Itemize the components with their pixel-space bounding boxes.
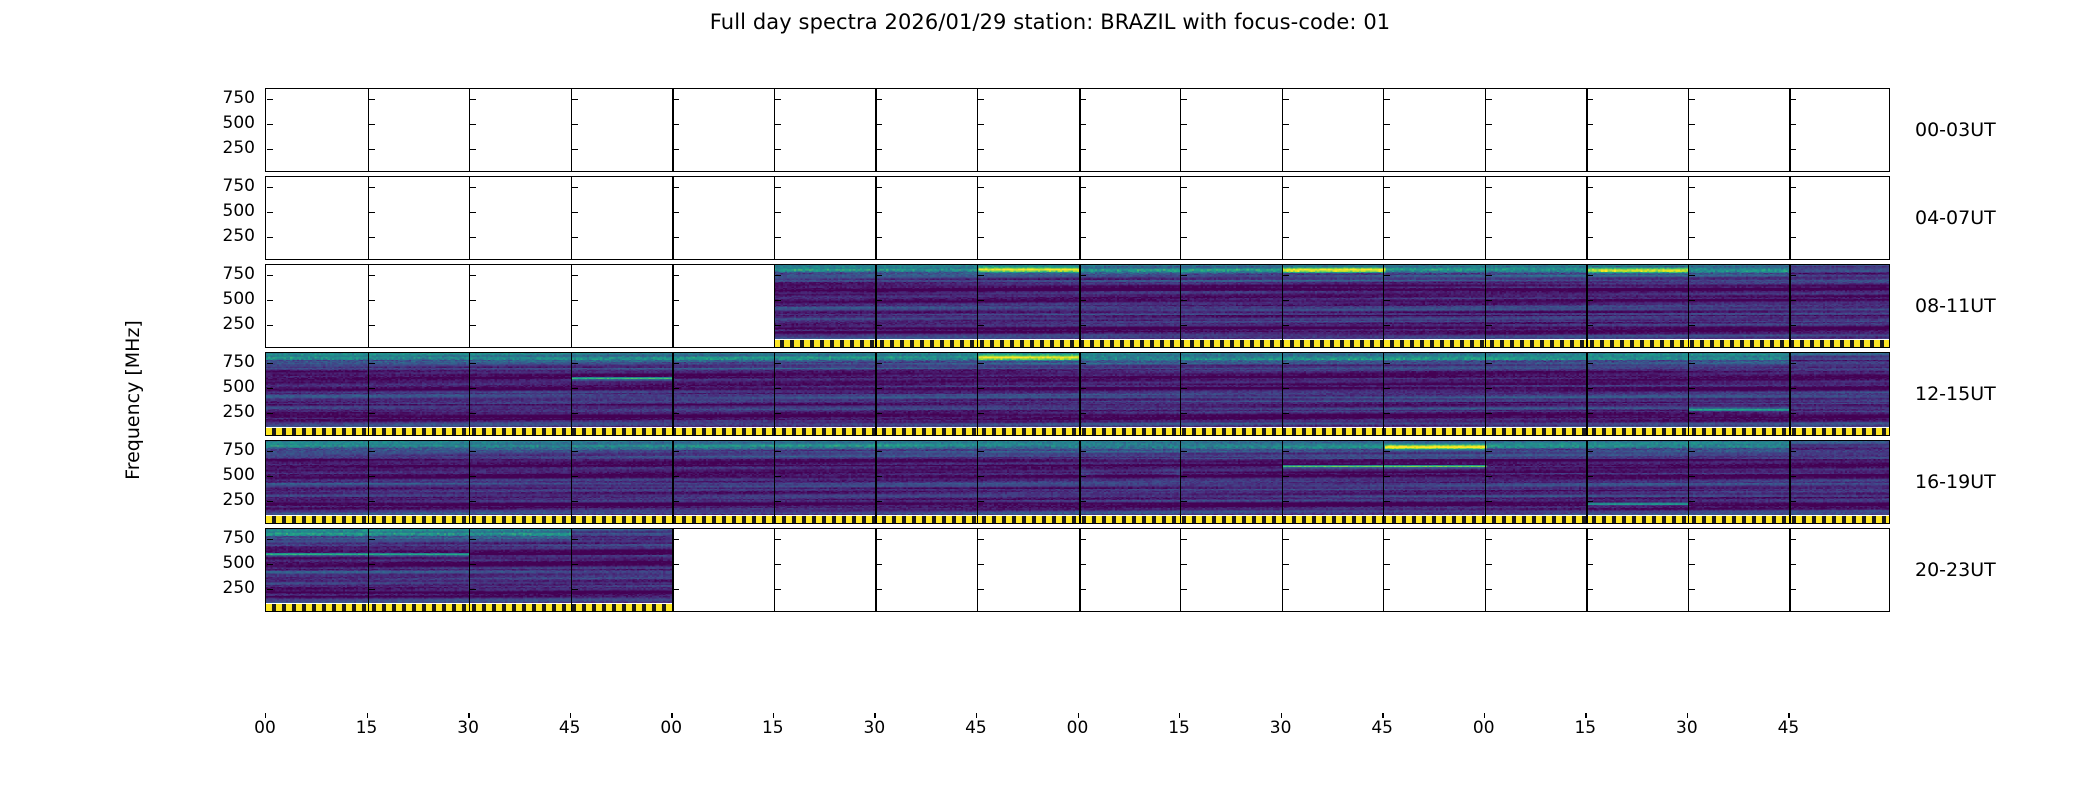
subpanel-divider bbox=[571, 529, 572, 611]
subpanel-divider bbox=[571, 89, 572, 171]
y-tick-mark bbox=[369, 413, 375, 414]
y-tick-mark bbox=[1689, 212, 1695, 213]
y-tick-mark bbox=[1587, 149, 1593, 150]
y-tick-mark bbox=[1790, 539, 1796, 540]
y-tick-mark bbox=[1181, 501, 1187, 502]
y-tick-mark bbox=[1283, 275, 1289, 276]
y-tick-mark bbox=[1384, 300, 1390, 301]
y-tick-mark bbox=[1486, 187, 1492, 188]
y-tick-mark bbox=[673, 187, 679, 188]
subpanel-divider bbox=[1282, 265, 1283, 347]
y-tick-mark bbox=[470, 501, 476, 502]
subpanel-divider bbox=[977, 441, 978, 523]
row-time-label: 08-11UT bbox=[1915, 295, 1996, 317]
y-tick-mark bbox=[1689, 237, 1695, 238]
y-tick-mark bbox=[876, 564, 882, 565]
subpanel-divider bbox=[1180, 353, 1181, 435]
y-tick-mark bbox=[673, 212, 679, 213]
y-tick-mark bbox=[1384, 363, 1390, 364]
y-tick-mark bbox=[1181, 149, 1187, 150]
y-tick-mark bbox=[470, 187, 476, 188]
y-tick-mark bbox=[1486, 99, 1492, 100]
y-tick-mark bbox=[1689, 187, 1695, 188]
subpanel-divider bbox=[1180, 89, 1181, 171]
y-tick-mark bbox=[1080, 388, 1086, 389]
y-tick-mark bbox=[369, 564, 375, 565]
y-tick-mark bbox=[1689, 451, 1695, 452]
subpanel-divider bbox=[672, 177, 673, 259]
subpanel-divider bbox=[469, 353, 470, 435]
y-tick-mark bbox=[1384, 212, 1390, 213]
y-tick-mark bbox=[1587, 501, 1593, 502]
y-tick-mark bbox=[1080, 237, 1086, 238]
y-tick-label: 750 bbox=[223, 528, 255, 548]
y-tick-mark bbox=[1486, 149, 1492, 150]
subpanel-divider bbox=[469, 265, 470, 347]
y-tick-mark bbox=[1384, 476, 1390, 477]
y-tick-mark bbox=[1790, 388, 1796, 389]
y-tick-mark bbox=[1181, 564, 1187, 565]
y-tick-mark bbox=[978, 476, 984, 477]
y-tick-mark bbox=[267, 187, 273, 188]
y-tick-mark bbox=[1283, 589, 1289, 590]
subpanel-divider bbox=[1688, 177, 1689, 259]
page-title: Full day spectra 2026/01/29 station: BRA… bbox=[0, 10, 2100, 34]
spectrogram-axes-08-11ut bbox=[265, 264, 1890, 348]
y-tick-mark bbox=[1790, 501, 1796, 502]
subpanel-divider bbox=[875, 177, 876, 259]
y-tick-mark bbox=[1486, 564, 1492, 565]
subpanel-divider bbox=[1383, 441, 1384, 523]
x-tick-label: 30 bbox=[457, 718, 479, 738]
y-tick-mark bbox=[978, 388, 984, 389]
y-tick-mark bbox=[1486, 388, 1492, 389]
y-tick-label: 250 bbox=[223, 402, 255, 422]
y-tick-mark bbox=[267, 149, 273, 150]
y-tick-mark bbox=[1689, 325, 1695, 326]
y-tick-label: 750 bbox=[223, 440, 255, 460]
subpanel-divider bbox=[469, 177, 470, 259]
y-tick-label: 500 bbox=[223, 113, 255, 133]
y-tick-mark bbox=[1384, 413, 1390, 414]
y-tick-mark bbox=[1486, 325, 1492, 326]
y-tick-mark bbox=[775, 212, 781, 213]
subpanel-divider bbox=[1586, 265, 1587, 347]
y-tick-mark bbox=[1181, 363, 1187, 364]
y-tick-mark bbox=[572, 476, 578, 477]
y-tick-mark bbox=[1790, 413, 1796, 414]
subpanel-divider bbox=[1383, 353, 1384, 435]
subpanel-divider bbox=[1688, 353, 1689, 435]
y-tick-mark bbox=[775, 539, 781, 540]
y-tick-mark bbox=[1689, 501, 1695, 502]
subpanel-divider bbox=[977, 89, 978, 171]
y-tick-mark bbox=[1587, 476, 1593, 477]
y-tick-mark bbox=[1587, 187, 1593, 188]
y-tick-mark bbox=[470, 124, 476, 125]
y-tick-mark bbox=[1689, 275, 1695, 276]
y-tick-mark bbox=[1587, 589, 1593, 590]
subpanel-divider bbox=[571, 353, 572, 435]
y-tick-mark bbox=[572, 413, 578, 414]
y-tick-mark bbox=[1283, 413, 1289, 414]
y-tick-label: 500 bbox=[223, 201, 255, 221]
y-tick-mark bbox=[1283, 363, 1289, 364]
subpanel-divider bbox=[1079, 353, 1081, 435]
row-time-label: 16-19UT bbox=[1915, 471, 1996, 493]
y-tick-mark bbox=[1283, 539, 1289, 540]
y-tick-mark bbox=[978, 124, 984, 125]
y-tick-mark bbox=[572, 589, 578, 590]
subpanel-divider bbox=[1282, 177, 1283, 259]
y-axis-title: Frequency [MHz] bbox=[122, 320, 144, 480]
subpanel-divider bbox=[368, 353, 369, 435]
y-tick-mark bbox=[267, 212, 273, 213]
y-tick-mark bbox=[369, 212, 375, 213]
y-tick-mark bbox=[1587, 300, 1593, 301]
y-tick-mark bbox=[1181, 187, 1187, 188]
y-tick-mark bbox=[1689, 539, 1695, 540]
y-tick-mark bbox=[673, 149, 679, 150]
spectrogram-row bbox=[265, 440, 1890, 524]
y-tick-mark bbox=[1080, 300, 1086, 301]
subpanel-divider bbox=[672, 265, 673, 347]
y-tick-mark bbox=[1384, 275, 1390, 276]
y-tick-mark bbox=[775, 413, 781, 414]
y-tick-mark bbox=[369, 325, 375, 326]
spectrogram-row bbox=[265, 264, 1890, 348]
y-tick-mark bbox=[1790, 325, 1796, 326]
y-tick-mark bbox=[1587, 325, 1593, 326]
y-tick-mark bbox=[978, 451, 984, 452]
subpanel-divider bbox=[774, 265, 775, 347]
subpanel-divider bbox=[977, 353, 978, 435]
y-tick-mark bbox=[978, 539, 984, 540]
y-tick-mark bbox=[572, 300, 578, 301]
x-tick-label: 00 bbox=[1067, 718, 1089, 738]
y-tick-mark bbox=[775, 363, 781, 364]
y-tick-mark bbox=[673, 124, 679, 125]
y-tick-mark bbox=[978, 212, 984, 213]
y-tick-mark bbox=[1486, 237, 1492, 238]
y-tick-mark bbox=[876, 413, 882, 414]
y-tick-mark bbox=[876, 388, 882, 389]
y-tick-mark bbox=[267, 476, 273, 477]
y-tick-label: 250 bbox=[223, 578, 255, 598]
y-tick-mark bbox=[470, 237, 476, 238]
y-tick-mark bbox=[673, 564, 679, 565]
y-tick-mark bbox=[267, 275, 273, 276]
subpanel-divider bbox=[1282, 89, 1283, 171]
y-tick-mark bbox=[572, 325, 578, 326]
y-tick-mark bbox=[978, 501, 984, 502]
subpanel-divider bbox=[1586, 529, 1587, 611]
y-tick-mark bbox=[1790, 300, 1796, 301]
y-tick-mark bbox=[369, 237, 375, 238]
y-tick-mark bbox=[470, 149, 476, 150]
subpanel-divider bbox=[368, 177, 369, 259]
y-tick-mark bbox=[470, 564, 476, 565]
y-tick-mark bbox=[369, 300, 375, 301]
y-tick-mark bbox=[1181, 539, 1187, 540]
subpanel-divider bbox=[1282, 529, 1283, 611]
y-tick-mark bbox=[1790, 187, 1796, 188]
x-tick-label: 15 bbox=[762, 718, 784, 738]
subpanel-divider bbox=[1180, 177, 1181, 259]
y-tick-mark bbox=[978, 187, 984, 188]
y-tick-mark bbox=[1689, 99, 1695, 100]
row-time-label: 20-23UT bbox=[1915, 559, 1996, 581]
y-tick-label: 250 bbox=[223, 226, 255, 246]
y-tick-mark bbox=[978, 564, 984, 565]
subpanel-divider bbox=[1789, 177, 1790, 259]
y-tick-mark bbox=[775, 476, 781, 477]
y-tick-mark bbox=[267, 501, 273, 502]
y-tick-mark bbox=[572, 451, 578, 452]
y-tick-mark bbox=[1689, 413, 1695, 414]
subpanel-divider bbox=[368, 89, 369, 171]
y-tick-mark bbox=[1384, 187, 1390, 188]
subpanel-divider bbox=[1180, 441, 1181, 523]
y-tick-mark bbox=[1587, 564, 1593, 565]
subpanel-divider bbox=[875, 353, 876, 435]
y-tick-mark bbox=[1283, 476, 1289, 477]
y-tick-mark bbox=[572, 212, 578, 213]
subpanel-divider bbox=[1079, 265, 1081, 347]
spectrogram-image bbox=[774, 265, 1890, 347]
y-tick-mark bbox=[1181, 451, 1187, 452]
subpanel-divider bbox=[469, 529, 470, 611]
y-tick-mark bbox=[673, 325, 679, 326]
y-tick-mark bbox=[1486, 363, 1492, 364]
subpanel-divider bbox=[368, 441, 369, 523]
y-tick-mark bbox=[775, 501, 781, 502]
y-tick-mark bbox=[1283, 124, 1289, 125]
y-tick-mark bbox=[1080, 212, 1086, 213]
y-tick-mark bbox=[369, 275, 375, 276]
x-tick-label: 45 bbox=[1371, 718, 1393, 738]
y-tick-mark bbox=[1790, 124, 1796, 125]
subpanel-divider bbox=[1485, 441, 1486, 523]
y-tick-mark bbox=[1790, 476, 1796, 477]
x-tick-label: 15 bbox=[356, 718, 378, 738]
y-tick-mark bbox=[673, 237, 679, 238]
y-tick-mark bbox=[775, 237, 781, 238]
subpanel-divider bbox=[571, 265, 572, 347]
y-tick-mark bbox=[267, 237, 273, 238]
x-tick-label: 00 bbox=[254, 718, 276, 738]
y-tick-mark bbox=[1283, 325, 1289, 326]
y-tick-mark bbox=[876, 363, 882, 364]
x-tick-label: 45 bbox=[559, 718, 581, 738]
y-tick-mark bbox=[1790, 149, 1796, 150]
y-tick-mark bbox=[1384, 124, 1390, 125]
y-tick-mark bbox=[1181, 124, 1187, 125]
subpanel-divider bbox=[1180, 529, 1181, 611]
y-tick-mark bbox=[267, 124, 273, 125]
x-tick-label: 45 bbox=[1778, 718, 1800, 738]
y-tick-mark bbox=[876, 501, 882, 502]
x-tick-label: 45 bbox=[965, 718, 987, 738]
y-tick-mark bbox=[369, 124, 375, 125]
subpanel-divider bbox=[1688, 529, 1689, 611]
y-tick-mark bbox=[572, 501, 578, 502]
y-tick-mark bbox=[1384, 564, 1390, 565]
y-tick-mark bbox=[1080, 589, 1086, 590]
y-tick-mark bbox=[1790, 564, 1796, 565]
y-tick-mark bbox=[1384, 325, 1390, 326]
y-tick-mark bbox=[673, 413, 679, 414]
y-tick-mark bbox=[1181, 275, 1187, 276]
y-tick-mark bbox=[775, 187, 781, 188]
spectrogram-row bbox=[265, 528, 1890, 612]
y-tick-mark bbox=[267, 589, 273, 590]
y-tick-mark bbox=[267, 300, 273, 301]
subpanel-divider bbox=[1282, 441, 1283, 523]
y-tick-mark bbox=[978, 237, 984, 238]
y-tick-mark bbox=[1181, 237, 1187, 238]
y-tick-mark bbox=[369, 451, 375, 452]
y-tick-mark bbox=[1587, 212, 1593, 213]
y-tick-mark bbox=[673, 388, 679, 389]
subpanel-divider bbox=[1282, 353, 1283, 435]
subpanel-divider bbox=[1586, 89, 1587, 171]
y-tick-mark bbox=[673, 501, 679, 502]
spectrogram-axes-16-19ut bbox=[265, 440, 1890, 524]
y-tick-mark bbox=[1283, 300, 1289, 301]
y-tick-mark bbox=[470, 363, 476, 364]
y-tick-mark bbox=[775, 388, 781, 389]
y-tick-label: 500 bbox=[223, 553, 255, 573]
y-tick-mark bbox=[1689, 564, 1695, 565]
y-tick-mark bbox=[1384, 589, 1390, 590]
y-tick-mark bbox=[1587, 413, 1593, 414]
y-tick-mark bbox=[978, 589, 984, 590]
subpanel-divider bbox=[875, 441, 876, 523]
y-tick-mark bbox=[775, 275, 781, 276]
y-tick-mark bbox=[978, 363, 984, 364]
y-tick-mark bbox=[978, 99, 984, 100]
subpanel-divider bbox=[1688, 441, 1689, 523]
y-tick-mark bbox=[369, 539, 375, 540]
subpanel-divider bbox=[368, 265, 369, 347]
y-tick-mark bbox=[1486, 539, 1492, 540]
y-tick-mark bbox=[1080, 564, 1086, 565]
y-tick-mark bbox=[1384, 501, 1390, 502]
subpanel-divider bbox=[1586, 177, 1587, 259]
subpanel-divider bbox=[774, 529, 775, 611]
y-tick-mark bbox=[1181, 476, 1187, 477]
x-tick-label: 15 bbox=[1574, 718, 1596, 738]
y-tick-mark bbox=[1283, 149, 1289, 150]
y-tick-mark bbox=[1181, 212, 1187, 213]
y-tick-mark bbox=[1587, 539, 1593, 540]
subpanel-divider bbox=[1688, 89, 1689, 171]
y-tick-mark bbox=[1080, 451, 1086, 452]
subpanel-divider bbox=[1586, 441, 1587, 523]
y-tick-mark bbox=[978, 325, 984, 326]
subpanel-divider bbox=[774, 353, 775, 435]
y-tick-mark bbox=[1283, 187, 1289, 188]
spectrogram-axes-20-23ut bbox=[265, 528, 1890, 612]
subpanel-divider bbox=[469, 441, 470, 523]
y-tick-mark bbox=[775, 300, 781, 301]
y-tick-label: 500 bbox=[223, 289, 255, 309]
subpanel-divider bbox=[1789, 353, 1790, 435]
x-tick-label: 30 bbox=[1676, 718, 1698, 738]
y-tick-mark bbox=[1283, 501, 1289, 502]
y-tick-mark bbox=[1587, 275, 1593, 276]
y-tick-mark bbox=[1790, 237, 1796, 238]
y-tick-mark bbox=[470, 413, 476, 414]
y-tick-mark bbox=[673, 363, 679, 364]
y-tick-mark bbox=[978, 275, 984, 276]
flag-strip bbox=[774, 340, 1890, 347]
subpanel-divider bbox=[672, 353, 673, 435]
y-tick-mark bbox=[1689, 589, 1695, 590]
y-tick-mark bbox=[470, 476, 476, 477]
y-tick-mark bbox=[369, 388, 375, 389]
y-tick-mark bbox=[267, 388, 273, 389]
spectrogram-plot-area bbox=[265, 88, 1890, 713]
y-tick-mark bbox=[876, 237, 882, 238]
y-tick-mark bbox=[1689, 388, 1695, 389]
y-tick-label: 750 bbox=[223, 176, 255, 196]
y-tick-mark bbox=[572, 237, 578, 238]
y-tick-mark bbox=[1790, 212, 1796, 213]
y-tick-mark bbox=[369, 187, 375, 188]
y-tick-mark bbox=[1080, 99, 1086, 100]
y-tick-mark bbox=[876, 300, 882, 301]
y-tick-mark bbox=[1587, 388, 1593, 389]
y-tick-mark bbox=[572, 564, 578, 565]
subpanel-divider bbox=[1383, 529, 1384, 611]
subpanel-divider bbox=[977, 177, 978, 259]
subpanel-divider bbox=[1383, 177, 1384, 259]
y-tick-mark bbox=[1486, 451, 1492, 452]
y-tick-mark bbox=[1283, 99, 1289, 100]
y-tick-mark bbox=[1080, 187, 1086, 188]
y-tick-mark bbox=[267, 451, 273, 452]
y-tick-mark bbox=[1181, 589, 1187, 590]
x-tick-label: 00 bbox=[660, 718, 682, 738]
x-tick-label-group: 00153045001530450015304500153045 bbox=[265, 718, 1890, 748]
subpanel-divider bbox=[1180, 265, 1181, 347]
y-tick-mark bbox=[470, 388, 476, 389]
y-tick-mark bbox=[369, 99, 375, 100]
y-tick-mark bbox=[978, 413, 984, 414]
y-tick-mark bbox=[1283, 237, 1289, 238]
subpanel-divider bbox=[1079, 441, 1081, 523]
y-tick-mark bbox=[876, 325, 882, 326]
y-tick-mark bbox=[1486, 212, 1492, 213]
spectrogram-row bbox=[265, 352, 1890, 436]
y-tick-mark bbox=[1181, 325, 1187, 326]
y-tick-mark bbox=[1384, 99, 1390, 100]
subpanel-divider bbox=[1079, 529, 1081, 611]
y-tick-label: 500 bbox=[223, 465, 255, 485]
y-tick-mark bbox=[1486, 501, 1492, 502]
y-tick-mark bbox=[775, 149, 781, 150]
y-tick-mark bbox=[1790, 451, 1796, 452]
subpanel-divider bbox=[1485, 265, 1486, 347]
y-tick-label: 750 bbox=[223, 88, 255, 108]
subpanel-divider bbox=[774, 177, 775, 259]
subpanel-divider bbox=[672, 441, 673, 523]
y-tick-label: 250 bbox=[223, 138, 255, 158]
row-time-label: 04-07UT bbox=[1915, 207, 1996, 229]
y-tick-mark bbox=[470, 451, 476, 452]
